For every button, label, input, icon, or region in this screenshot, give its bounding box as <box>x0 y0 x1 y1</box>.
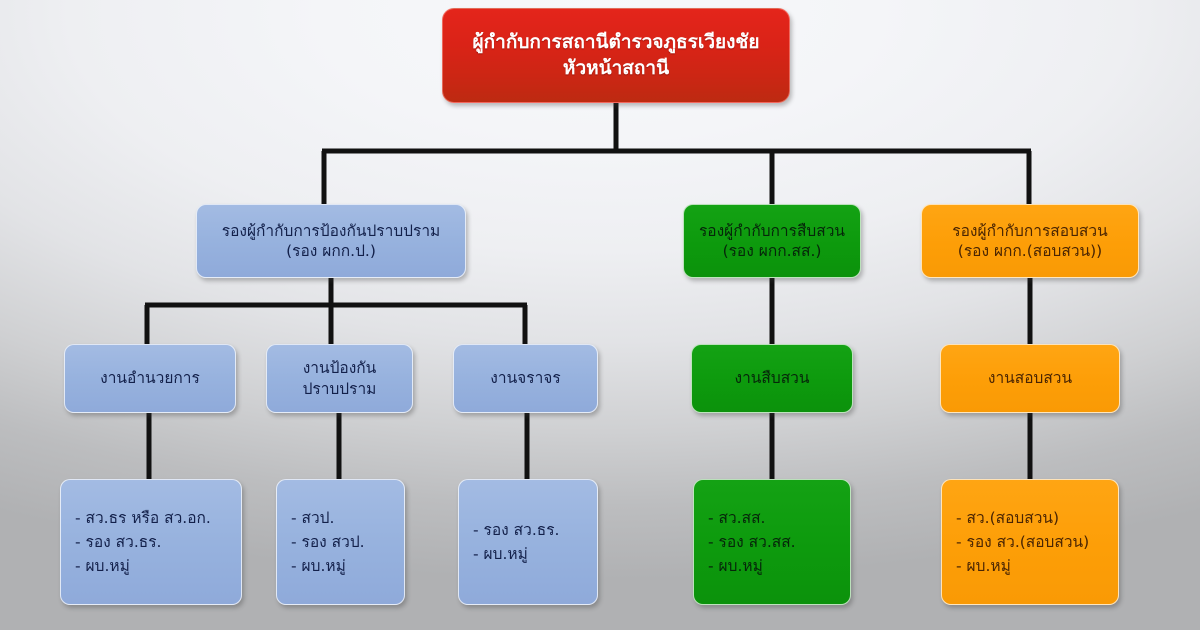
staff-traffic-item-2: - ผบ.หมู่ <box>459 542 597 566</box>
node-section-traffic[interactable]: งานจราจร <box>453 344 598 413</box>
staff-inquiry-item-2: - รอง สว.(สอบสวน) <box>942 530 1118 554</box>
node-section-administration[interactable]: งานอำนวยการ <box>64 344 236 413</box>
node-deputy-inquiry[interactable]: รองผู้กำกับการสอบสวน (รอง ผกก.(สอบสวน)) <box>921 204 1139 278</box>
node-staff-traffic[interactable]: - รอง สว.ธร. - ผบ.หมู่ <box>458 479 598 605</box>
deputy-prevention-line2: (รอง ผกก.ป.) <box>197 241 465 261</box>
staff-administration-item-3: - ผบ.หมู่ <box>61 554 241 578</box>
deputy-investigation-line1: รองผู้กำกับการสืบสวน <box>684 221 860 241</box>
staff-investigation-item-1: - สว.สส. <box>694 506 850 530</box>
deputy-prevention-line1: รองผู้กำกับการป้องกันปราบปราม <box>197 221 465 241</box>
staff-investigation-item-3: - ผบ.หมู่ <box>694 554 850 578</box>
section-inquiry-label: งานสอบสวน <box>941 368 1119 388</box>
node-deputy-prevention[interactable]: รองผู้กำกับการป้องกันปราบปราม (รอง ผกก.ป… <box>196 204 466 278</box>
node-section-inquiry[interactable]: งานสอบสวน <box>940 344 1120 413</box>
node-deputy-investigation[interactable]: รองผู้กำกับการสืบสวน (รอง ผกก.สส.) <box>683 204 861 278</box>
staff-prevention-item-2: - รอง สวป. <box>277 530 404 554</box>
staff-administration-item-2: - รอง สว.ธร. <box>61 530 241 554</box>
root-title-line2: หัวหน้าสถานี <box>443 56 789 81</box>
section-prevention-label-line1: งานป้องกัน <box>267 358 412 378</box>
root-title-line1: ผู้กำกับการสถานีตำรวจภูธรเวียงชัย <box>443 30 789 55</box>
node-staff-inquiry[interactable]: - สว.(สอบสวน) - รอง สว.(สอบสวน) - ผบ.หมู… <box>941 479 1119 605</box>
staff-inquiry-item-3: - ผบ.หมู่ <box>942 554 1118 578</box>
deputy-inquiry-line1: รองผู้กำกับการสอบสวน <box>922 221 1138 241</box>
section-traffic-label: งานจราจร <box>454 368 597 388</box>
node-staff-investigation[interactable]: - สว.สส. - รอง สว.สส. - ผบ.หมู่ <box>693 479 851 605</box>
staff-traffic-item-1: - รอง สว.ธร. <box>459 518 597 542</box>
staff-inquiry-item-1: - สว.(สอบสวน) <box>942 506 1118 530</box>
section-prevention-label-line2: ปราบปราม <box>267 379 412 399</box>
org-chart-canvas: ผู้กำกับการสถานีตำรวจภูธรเวียงชัย หัวหน้… <box>0 0 1200 630</box>
section-administration-label: งานอำนวยการ <box>65 368 235 388</box>
staff-prevention-item-3: - ผบ.หมู่ <box>277 554 404 578</box>
deputy-investigation-line2: (รอง ผกก.สส.) <box>684 241 860 261</box>
staff-investigation-item-2: - รอง สว.สส. <box>694 530 850 554</box>
node-staff-administration[interactable]: - สว.ธร หรือ สว.อก. - รอง สว.ธร. - ผบ.หม… <box>60 479 242 605</box>
node-section-investigation[interactable]: งานสืบสวน <box>691 344 853 413</box>
node-station-superintendent[interactable]: ผู้กำกับการสถานีตำรวจภูธรเวียงชัย หัวหน้… <box>442 8 790 103</box>
deputy-inquiry-line2: (รอง ผกก.(สอบสวน)) <box>922 241 1138 261</box>
node-staff-prevention-suppression[interactable]: - สวป. - รอง สวป. - ผบ.หมู่ <box>276 479 405 605</box>
node-section-prevention-suppression[interactable]: งานป้องกัน ปราบปราม <box>266 344 413 413</box>
staff-administration-item-1: - สว.ธร หรือ สว.อก. <box>61 506 241 530</box>
section-investigation-label: งานสืบสวน <box>692 368 852 388</box>
staff-prevention-item-1: - สวป. <box>277 506 404 530</box>
